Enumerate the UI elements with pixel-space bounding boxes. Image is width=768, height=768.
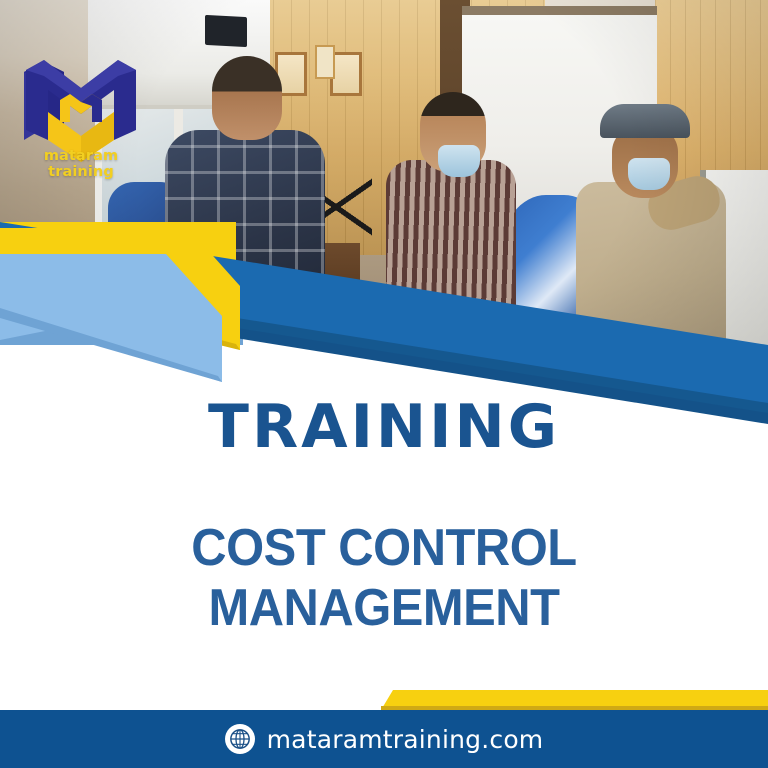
footer-bar: mataramtraining.com (0, 710, 768, 768)
eyebrow-title: TRAINING (0, 392, 768, 462)
footer-website-url[interactable]: mataramtraining.com (267, 725, 544, 754)
logo-wordmark: mataram training (18, 148, 144, 180)
page-title: COST CONTROL MANAGEMENT (23, 518, 745, 638)
light-blue-ribbon-shadow (0, 300, 243, 345)
globe-icon (225, 724, 255, 754)
light-blue-diagonal-band-edge (0, 308, 222, 382)
bottom-yellow-accent (381, 690, 768, 710)
training-poster: mataram training TRAINING COST CONTROL M… (0, 0, 768, 768)
brand-logo (18, 44, 144, 164)
